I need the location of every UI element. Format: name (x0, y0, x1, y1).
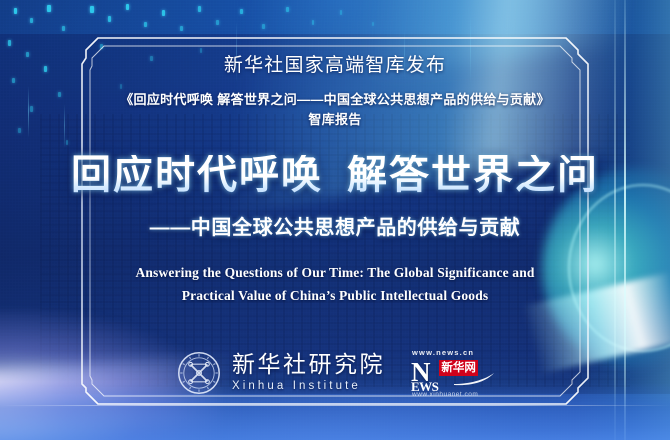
report-title-line-2: 智库报告 (120, 110, 550, 130)
news-swoosh-icon (453, 373, 495, 386)
english-title-line-2: Practical Value of China’s Public Intell… (135, 285, 534, 307)
main-title-part-1: 回应时代呼唤 (71, 153, 323, 197)
report-title-block: 《回应时代呼唤 解答世界之问——中国全球公共思想产品的供给与贡献》 智库报告 (120, 90, 550, 130)
report-title-line-1: 《回应时代呼唤 解答世界之问——中国全球公共思想产品的供给与贡献》 (120, 92, 550, 107)
main-subtitle: ——中国全球公共思想产品的供给与贡献 (150, 211, 521, 240)
news-wordmark-left: N EWS (411, 360, 438, 388)
xinhua-news-logo[interactable]: www.news.cn N EWS 新华网 www.xinhuanet.com (411, 348, 493, 398)
english-title-block: Answering the Questions of Our Time: The… (135, 262, 534, 307)
main-title-part-2: 解答世界之问 (347, 153, 599, 197)
news-bottom-url: www.xinhuanet.com (411, 391, 478, 398)
xinhua-institute-text: 新华社研究院 Xinhua Institute (232, 353, 385, 393)
poster-canvas: 新华社国家高端智库发布 《回应时代呼唤 解答世界之问——中国全球公共思想产品的供… (0, 0, 670, 440)
institute-name-cn: 新华社研究院 (232, 353, 385, 376)
xinhua-institute-seal-icon (177, 351, 221, 395)
poster-content: 新华社国家高端智库发布 《回应时代呼唤 解答世界之问——中国全球公共思想产品的供… (0, 0, 670, 440)
news-top-url: www.news.cn (411, 348, 474, 357)
english-title-line-1: Answering the Questions of Our Time: The… (135, 265, 534, 280)
institute-name-en: Xinhua Institute (232, 381, 361, 393)
xinhua-institute-logo[interactable]: 新华社研究院 Xinhua Institute (177, 351, 385, 395)
logo-row: 新华社研究院 Xinhua Institute www.news.cn N EW… (0, 348, 670, 398)
publisher-eyebrow: 新华社国家高端智库发布 (224, 50, 446, 77)
main-title: 回应时代呼唤解答世界之问 (71, 155, 599, 195)
